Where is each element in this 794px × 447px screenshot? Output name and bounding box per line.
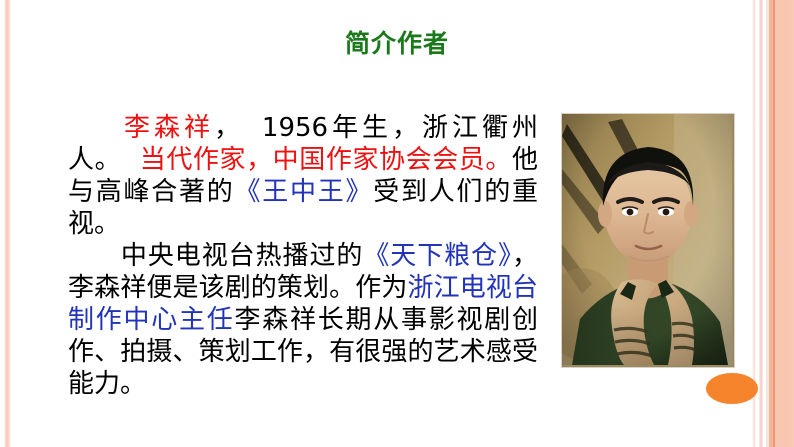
right-border-stripe-2 <box>759 0 763 447</box>
slide-canvas: 简介作者 李森祥，1956年生，浙江衢州人。当代作家，中国作家协会会员。他与高峰… <box>0 0 794 447</box>
author-portrait-photo <box>561 113 735 368</box>
right-border-stripe-6 <box>775 0 794 447</box>
author-title-highlight: 当代作家，中国作家协会会员。 <box>139 145 512 175</box>
paragraph-2: 中央电视台热播过的《天下粮仓》，李森祥便是该剧的策划。作为浙江电视台制作中心主任… <box>68 240 538 400</box>
p1-comma: ， <box>214 113 244 143</box>
author-portrait-image <box>562 114 732 365</box>
orange-ellipse-bullet <box>706 373 758 404</box>
drama-title-tianxialiangcang: 《天下粮仓》 <box>363 241 512 271</box>
right-border-decoration <box>752 0 794 447</box>
slide-title: 简介作者 <box>0 29 794 59</box>
author-name-highlight: 李森祥 <box>120 113 214 143</box>
left-border-decoration <box>4 0 11 447</box>
p2-lead: 中央电视台热播过的 <box>120 241 363 271</box>
paragraph-1: 李森祥，1956年生，浙江衢州人。当代作家，中国作家协会会员。他与高峰合著的《王… <box>68 112 538 240</box>
book-title-wangzhongwang: 《王中王》 <box>234 177 373 207</box>
slide-body-text: 李森祥，1956年生，浙江衢州人。当代作家，中国作家协会会员。他与高峰合著的《王… <box>68 112 538 400</box>
